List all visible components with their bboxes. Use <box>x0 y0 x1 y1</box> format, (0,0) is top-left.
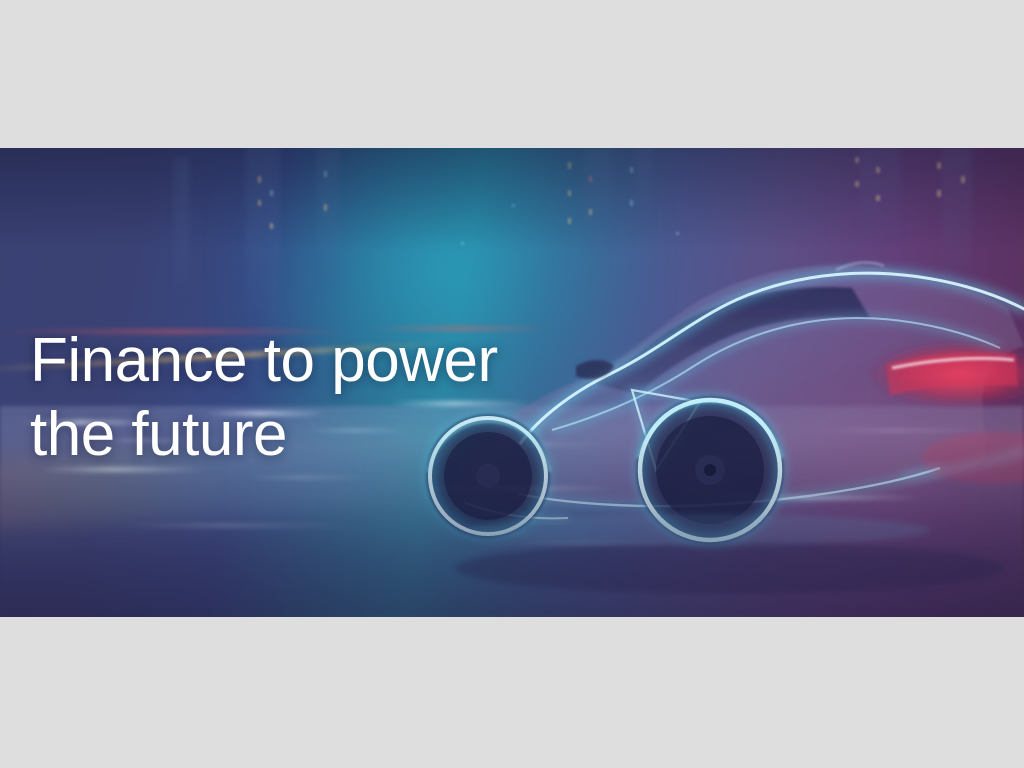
page-title: Finance to power the future <box>30 324 498 472</box>
finance-banner: Finance to power the future Credit is su… <box>0 148 1024 617</box>
page-root: Finance to power the future Credit is su… <box>0 0 1024 768</box>
